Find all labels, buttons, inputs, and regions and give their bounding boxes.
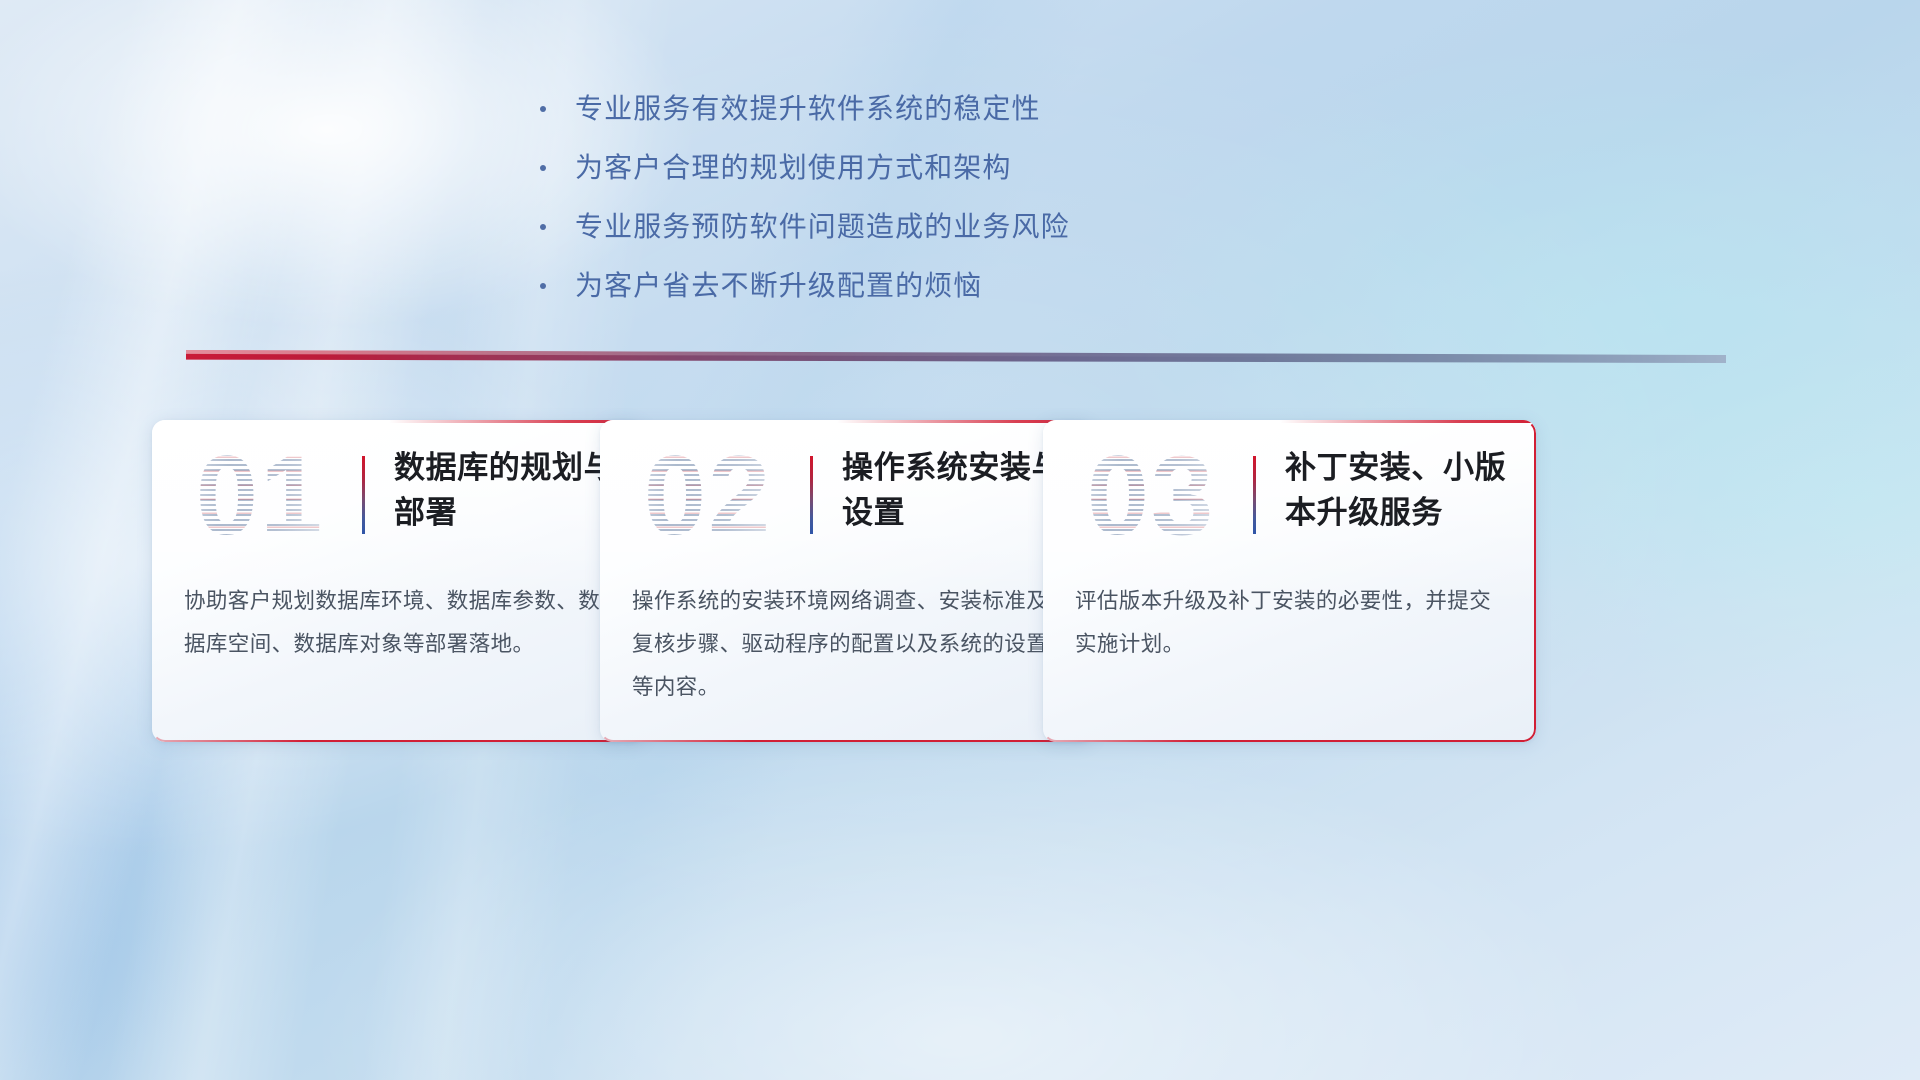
card-body-text: 协助客户规划数据库环境、数据库参数、数据库空间、数据库对象等部署落地。 bbox=[184, 580, 619, 666]
card-title-rule bbox=[362, 456, 365, 534]
card-header: 02 02 操作系统安装与设置 bbox=[600, 420, 1093, 575]
bullet-dot-icon bbox=[540, 224, 546, 230]
bullet-text: 专业服务有效提升软件系统的稳定性 bbox=[575, 90, 1041, 128]
benefits-bullet-list: 专业服务有效提升软件系统的稳定性 为客户合理的规划使用方式和架构 专业服务预防软… bbox=[540, 90, 1180, 326]
service-card-01[interactable]: 01 01 数据库的规划与部署 协助客户规划数据库环境、数据库参数、数据库空间、… bbox=[152, 420, 645, 742]
card-number-watermark: 03 bbox=[1067, 436, 1235, 556]
card-title: 补丁安装、小版本升级服务 bbox=[1285, 445, 1521, 535]
card-title-rule bbox=[1253, 456, 1256, 534]
bullet-item: 专业服务预防软件问题造成的业务风险 bbox=[540, 208, 1180, 246]
bullet-item: 为客户省去不断升级配置的烦恼 bbox=[540, 267, 1180, 305]
bullet-item: 为客户合理的规划使用方式和架构 bbox=[540, 149, 1180, 187]
bullet-dot-icon bbox=[540, 283, 546, 289]
card-header: 01 01 数据库的规划与部署 bbox=[152, 420, 645, 575]
bullet-text: 专业服务预防软件问题造成的业务风险 bbox=[575, 208, 1070, 246]
card-header: 03 03 补丁安装、小版本升级服务 bbox=[1043, 420, 1536, 575]
card-body-text: 操作系统的安装环境网络调查、安装标准及复核步骤、驱动程序的配置以及系统的设置等内… bbox=[632, 580, 1067, 709]
service-card-list: 01 01 数据库的规划与部署 协助客户规划数据库环境、数据库参数、数据库空间、… bbox=[0, 420, 1920, 750]
card-number-watermark: 02 bbox=[624, 436, 792, 556]
bullet-dot-icon bbox=[540, 106, 546, 112]
card-red-top-accent bbox=[1280, 420, 1536, 423]
card-body-text: 评估版本升级及补丁安装的必要性，并提交实施计划。 bbox=[1075, 580, 1510, 666]
service-card-03[interactable]: 03 03 补丁安装、小版本升级服务 评估版本升级及补丁安装的必要性，并提交实施… bbox=[1043, 420, 1536, 742]
bullet-dot-icon bbox=[540, 165, 546, 171]
section-divider bbox=[186, 350, 1726, 363]
service-card-02[interactable]: 02 02 操作系统安装与设置 操作系统的安装环境网络调查、安装标准及复核步骤、… bbox=[600, 420, 1093, 742]
card-title-rule bbox=[810, 456, 813, 534]
bullet-text: 为客户省去不断升级配置的烦恼 bbox=[575, 267, 982, 305]
bullet-item: 专业服务有效提升软件系统的稳定性 bbox=[540, 90, 1180, 128]
card-title: 数据库的规划与部署 bbox=[394, 445, 630, 535]
bullet-text: 为客户合理的规划使用方式和架构 bbox=[575, 149, 1012, 187]
card-number-watermark: 01 bbox=[176, 436, 344, 556]
